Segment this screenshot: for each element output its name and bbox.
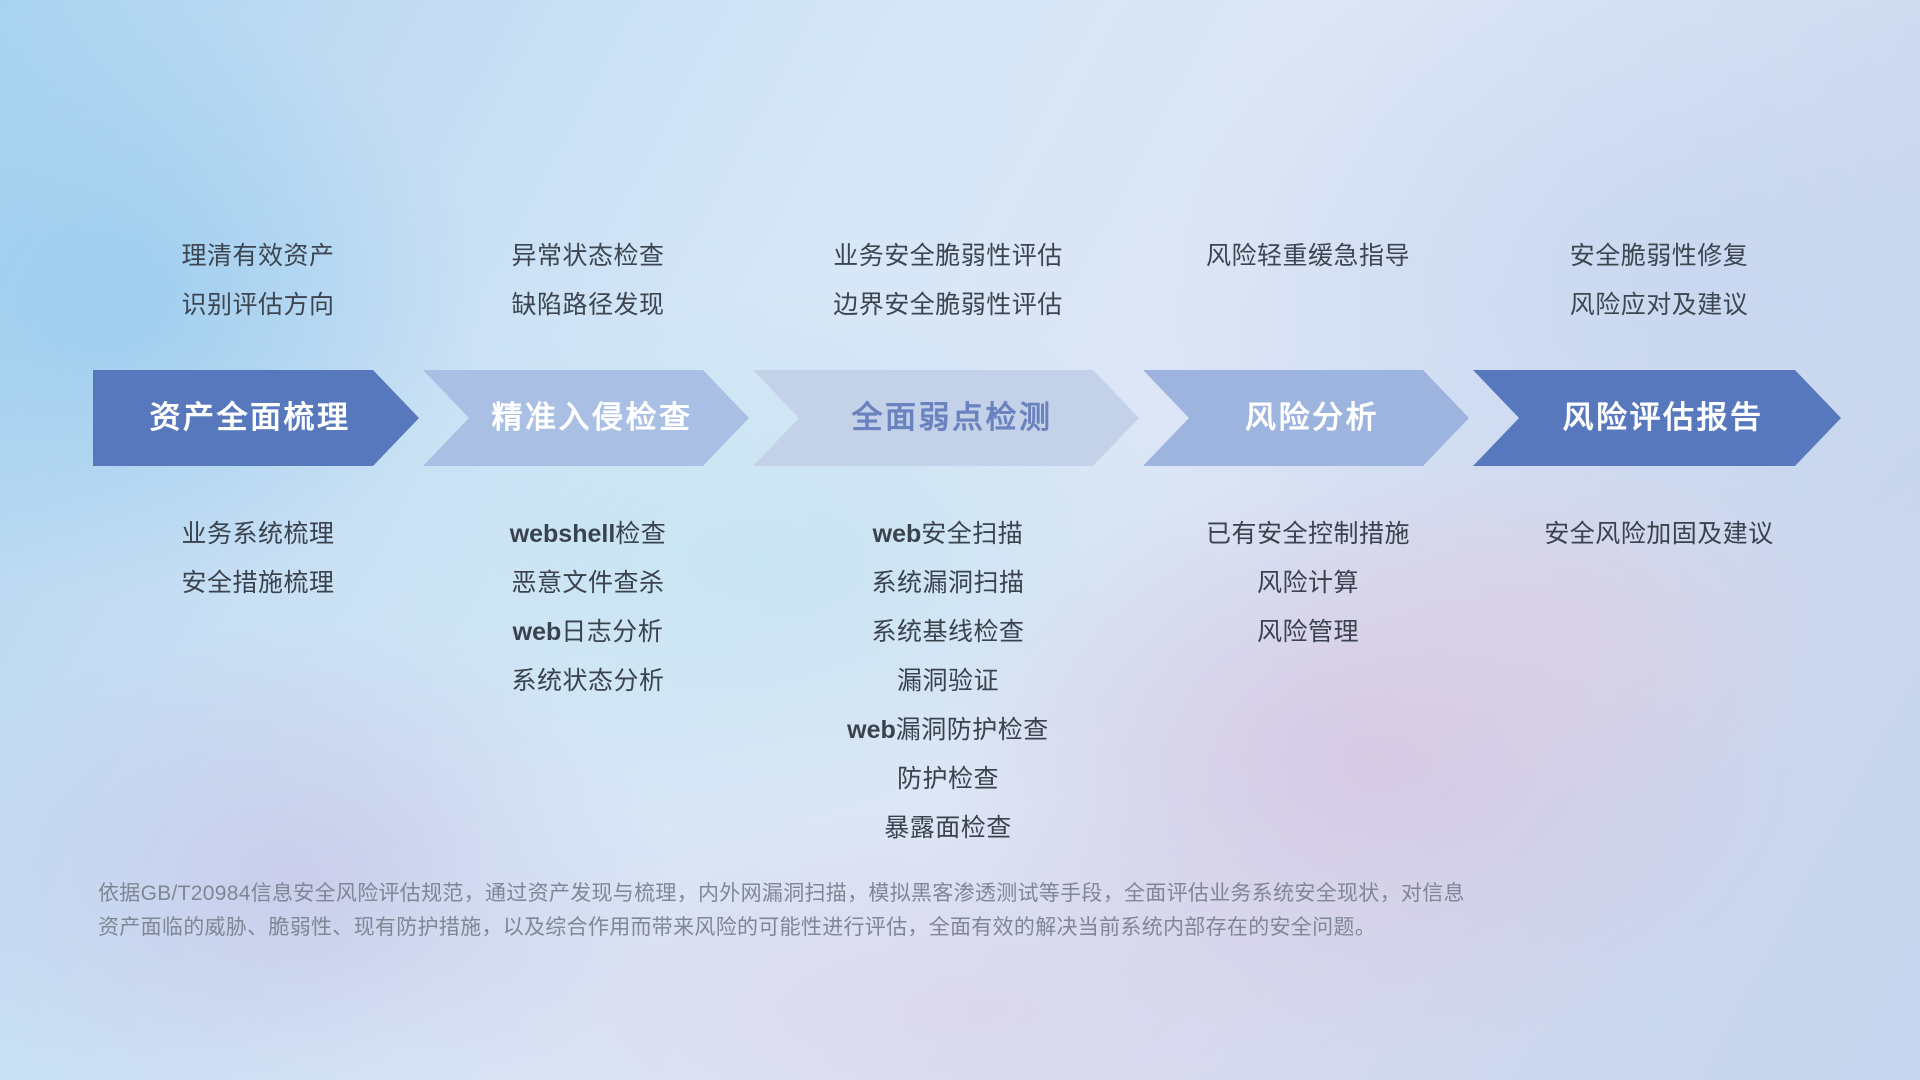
detail-item: 业务系统梳理	[93, 510, 423, 559]
detail-item: 系统基线检查	[753, 608, 1143, 657]
diagram-canvas: 理清有效资产识别评估方向异常状态检查缺陷路径发现业务安全脆弱性评估边界安全脆弱性…	[0, 0, 1920, 1080]
detail-item: 安全风险加固及建议	[1473, 510, 1845, 559]
detail-item: 系统状态分析	[423, 657, 753, 706]
detail-list-asset-inventory: 业务系统梳理安全措施梳理	[93, 510, 423, 608]
detail-item-text: 已有安全控制措施	[1206, 520, 1410, 548]
top-caption: 异常状态检查	[423, 232, 753, 281]
top-caption: 风险应对及建议	[1473, 281, 1845, 330]
detail-item: web漏洞防护检查	[753, 706, 1143, 755]
detail-item: web日志分析	[423, 608, 753, 657]
top-caption: 风险轻重缓急指导	[1143, 232, 1473, 281]
top-caption-group-risk-analysis: 风险轻重缓急指导	[1143, 232, 1473, 281]
detail-item: 暴露面检查	[753, 804, 1143, 853]
detail-item-text: 漏洞验证	[897, 667, 999, 695]
detail-item-text: 系统漏洞扫描	[871, 569, 1024, 597]
detail-item-text: 系统状态分析	[511, 667, 664, 695]
detail-item-text: 风险计算	[1257, 569, 1359, 597]
detail-item-text: 防护检查	[897, 765, 999, 793]
detail-item: web安全扫描	[753, 510, 1143, 559]
chevron-svg: 资产全面梳理精准入侵检查全面弱点检测风险分析风险评估报告	[93, 370, 1845, 466]
chevron-label-risk-analysis: 风险分析	[1245, 400, 1379, 435]
detail-item-latin: web	[513, 618, 562, 646]
detail-item-text: 恶意文件查杀	[511, 569, 664, 597]
detail-item: 风险管理	[1143, 608, 1473, 657]
footnote-line-2: 资产面临的威胁、脆弱性、现有防护措施，以及综合作用而带来风险的可能性进行评估，全…	[98, 911, 1758, 945]
top-caption: 理清有效资产	[93, 232, 423, 281]
detail-item-text: 安全扫描	[921, 520, 1023, 548]
top-caption: 识别评估方向	[93, 281, 423, 330]
detail-item-text: 安全风险加固及建议	[1544, 520, 1774, 548]
detail-list-assessment-report: 安全风险加固及建议	[1473, 510, 1845, 559]
top-caption-group-assessment-report: 安全脆弱性修复风险应对及建议	[1473, 232, 1845, 330]
detail-item-text: 风险管理	[1257, 618, 1359, 646]
process-chevron-band: 资产全面梳理精准入侵检查全面弱点检测风险分析风险评估报告	[93, 370, 1845, 466]
detail-item-latin: web	[847, 716, 896, 744]
detail-item: 防护检查	[753, 755, 1143, 804]
detail-list-intrusion-check: webshell检查恶意文件查杀web日志分析系统状态分析	[423, 510, 753, 706]
detail-item-text: 安全措施梳理	[181, 569, 334, 597]
detail-item: 恶意文件查杀	[423, 559, 753, 608]
bottom-detail-lists: 业务系统梳理安全措施梳理webshell检查恶意文件查杀web日志分析系统状态分…	[93, 510, 1845, 853]
top-caption-group-intrusion-check: 异常状态检查缺陷路径发现	[423, 232, 753, 330]
top-caption-group-asset-inventory: 理清有效资产识别评估方向	[93, 232, 423, 330]
top-caption: 缺陷路径发现	[423, 281, 753, 330]
footnote-paragraph: 依据GB/T20984信息安全风险评估规范，通过资产发现与梳理，内外网漏洞扫描，…	[98, 877, 1758, 945]
detail-item-latin: web	[873, 520, 922, 548]
detail-item: 系统漏洞扫描	[753, 559, 1143, 608]
chevron-label-weakness-detection: 全面弱点检测	[851, 400, 1053, 435]
detail-item-text: 业务系统梳理	[181, 520, 334, 548]
top-caption: 安全脆弱性修复	[1473, 232, 1845, 281]
detail-list-risk-analysis: 已有安全控制措施风险计算风险管理	[1143, 510, 1473, 657]
chevron-label-intrusion-check: 精准入侵检查	[492, 400, 693, 435]
detail-list-weakness-detection: web安全扫描系统漏洞扫描系统基线检查漏洞验证web漏洞防护检查防护检查暴露面检…	[753, 510, 1143, 853]
detail-item-latin: webshell	[510, 520, 616, 548]
detail-item: 已有安全控制措施	[1143, 510, 1473, 559]
detail-item-text: 检查	[615, 520, 666, 548]
top-caption-group-weakness-detection: 业务安全脆弱性评估边界安全脆弱性评估	[753, 232, 1143, 330]
detail-item: 风险计算	[1143, 559, 1473, 608]
detail-item-text: 漏洞防护检查	[896, 716, 1049, 744]
chevron-label-assessment-report: 风险评估报告	[1563, 400, 1764, 435]
detail-item-text: 暴露面检查	[884, 814, 1012, 842]
detail-item-text: 日志分析	[561, 618, 663, 646]
top-captions-row: 理清有效资产识别评估方向异常状态检查缺陷路径发现业务安全脆弱性评估边界安全脆弱性…	[93, 232, 1845, 330]
footnote-line-1: 依据GB/T20984信息安全风险评估规范，通过资产发现与梳理，内外网漏洞扫描，…	[98, 877, 1758, 911]
detail-item: webshell检查	[423, 510, 753, 559]
top-caption: 边界安全脆弱性评估	[753, 281, 1143, 330]
detail-item-text: 系统基线检查	[871, 618, 1024, 646]
detail-item: 漏洞验证	[753, 657, 1143, 706]
top-caption: 业务安全脆弱性评估	[753, 232, 1143, 281]
detail-item: 安全措施梳理	[93, 559, 423, 608]
chevron-label-asset-inventory: 资产全面梳理	[150, 400, 351, 435]
